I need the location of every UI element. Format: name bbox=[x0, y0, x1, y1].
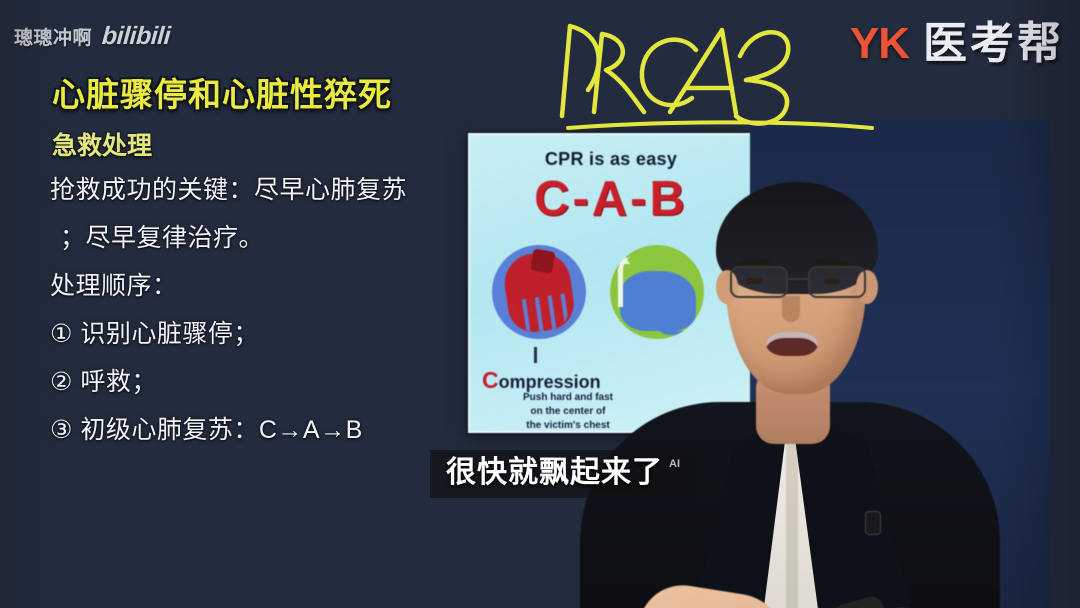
presenter-eye-left bbox=[746, 278, 762, 284]
slide-title: 心脏骤停和心脏性猝死 bbox=[52, 68, 392, 116]
slide-body: 抢救成功的关键：尽早心肺复苏 ；尽早复律治疗。 处理顺序： ① 识别心脏骤停； … bbox=[50, 166, 470, 454]
slide-body-line: ① 识别心脏骤停； bbox=[50, 310, 470, 358]
subtitle-caption: 很快就飘起来了 AI bbox=[430, 450, 696, 498]
brand-lockup: YK 医考帮 bbox=[850, 22, 1064, 66]
caption-text: 很快就飘起来了 bbox=[446, 456, 663, 490]
slide-section-heading: 急救处理 bbox=[52, 126, 152, 162]
slide-body-line: ③ 初级心肺复苏：C→A→B bbox=[50, 406, 470, 454]
presenter-shirt-placket bbox=[786, 438, 798, 608]
bilibili-logo-icon: bilibili bbox=[101, 22, 171, 51]
brand-name: 医考帮 bbox=[923, 22, 1064, 66]
brand-mark-yk: YK bbox=[850, 22, 909, 66]
poster-step-initial: C bbox=[482, 367, 499, 393]
presenter-figure bbox=[520, 120, 1040, 608]
uploader-watermark: 璁璁冲啊 bilibili bbox=[14, 22, 170, 51]
presenter-eye-right bbox=[824, 278, 840, 284]
slide-body-line: 处理顺序： bbox=[50, 262, 470, 310]
lapel-microphone-icon bbox=[866, 512, 880, 534]
presenter-nose bbox=[782, 296, 800, 322]
presenter-mouth bbox=[766, 332, 818, 356]
uploader-name: 璁璁冲啊 bbox=[14, 23, 92, 50]
ai-generated-badge: AI bbox=[669, 458, 680, 470]
slide-body-line: ；尽早复律治疗。 bbox=[50, 214, 470, 262]
video-player-frame: 璁璁冲啊 bilibili 心脏骤停和心脏性猝死 急救处理 抢救成功的关键：尽早… bbox=[0, 0, 1080, 608]
slide-body-line: 抢救成功的关键：尽早心肺复苏 bbox=[50, 166, 470, 214]
slide-body-line: ② 呼救； bbox=[50, 358, 470, 406]
